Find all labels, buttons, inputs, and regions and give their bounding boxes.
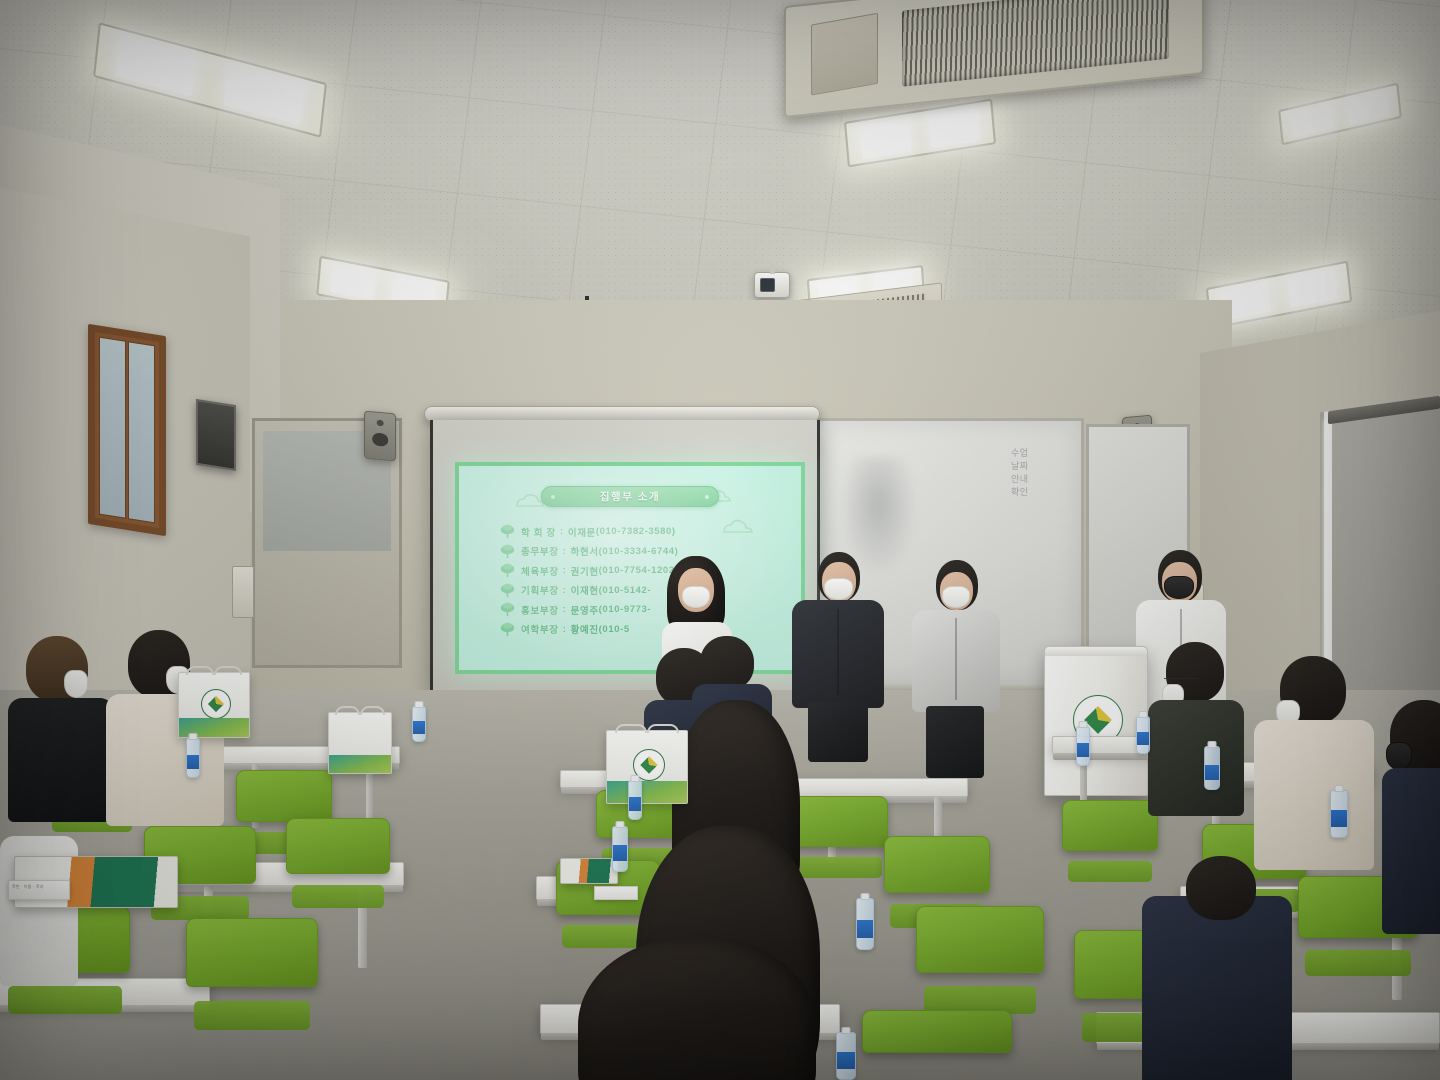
- roster-role: 학 회 장: [521, 525, 556, 539]
- tree-icon: [499, 524, 516, 539]
- emblem-crest: [208, 696, 224, 712]
- roster-role: 총무부장: [521, 544, 559, 558]
- face-mask: [1386, 742, 1412, 770]
- bag-handle: [335, 706, 360, 715]
- slide-title-pill: 집행부 소개: [541, 486, 719, 507]
- desk: [796, 778, 968, 797]
- face-mask: [64, 670, 88, 698]
- roster-separator: :: [563, 624, 567, 635]
- wall-speaker-left: [364, 411, 396, 462]
- bag-handle: [186, 666, 214, 675]
- legs: [926, 706, 984, 778]
- roster-name: 권기현: [571, 564, 599, 578]
- roster-row: 기획부장 : 이재현 (010-5142-: [499, 581, 799, 601]
- tree-icon: [499, 602, 516, 617]
- roster-row: 홍보부장 : 문영주 (010-9773-: [499, 600, 799, 620]
- roster-row: 학 회 장 : 이재문 (010-7382-3580): [499, 522, 799, 542]
- ac-vane: [811, 13, 878, 96]
- podium-top: [1045, 647, 1147, 656]
- whiteboard-line: 안내: [1011, 473, 1067, 486]
- roster-phone: (010-5: [599, 624, 630, 635]
- roster-separator: :: [563, 546, 567, 557]
- gift-box: [560, 858, 618, 884]
- roster-separator: :: [563, 604, 567, 615]
- head: [700, 636, 754, 690]
- tree-icon: [499, 583, 516, 598]
- roster-name: 이재현: [571, 583, 599, 597]
- left-window: [88, 324, 166, 536]
- chair[interactable]: [286, 818, 390, 908]
- student-seated: [1382, 700, 1440, 930]
- tree-icon: [499, 563, 516, 578]
- torso: [912, 610, 1000, 712]
- water-bottle: [856, 898, 874, 950]
- pill-dot: [551, 495, 555, 499]
- roster-row: 체육부장 : 권기현 (010-7754-1202): [499, 561, 799, 581]
- slide-roster: 학 회 장 : 이재문 (010-7382-3580) 총무부장 : 하현서 (…: [499, 522, 799, 639]
- torso: [792, 600, 884, 708]
- emblem-crest: [640, 756, 657, 773]
- torso: [1148, 700, 1244, 816]
- tote-bag: [178, 672, 250, 738]
- student-foreground: [1142, 856, 1292, 1080]
- name-card: [594, 886, 638, 900]
- roster-row: 총무부장 : 하현서 (010-3334-6744): [499, 542, 799, 562]
- chair[interactable]: [916, 906, 1044, 1014]
- torso: [1254, 720, 1374, 870]
- bag-handle: [647, 724, 679, 733]
- ac-grille: [902, 0, 1168, 86]
- face-mask: [682, 586, 710, 608]
- student-foreground: [578, 938, 816, 1080]
- face-mask: [1164, 576, 1194, 599]
- water-bottle: [186, 738, 200, 778]
- roster-phone: (010-9773-: [599, 604, 651, 615]
- bag-color-band: [329, 755, 391, 773]
- cctv-camera: [754, 272, 790, 298]
- roster-role: 여학부장: [521, 622, 559, 636]
- torso: [1142, 896, 1292, 1080]
- roster-role: 홍보부장: [521, 603, 559, 617]
- roster-phone: (010-5142-: [599, 585, 651, 596]
- roster-name: 문영주: [571, 603, 599, 617]
- whiteboard-writing: 수업 날짜 안내 확인: [1011, 447, 1067, 537]
- jacket-zipper: [837, 609, 839, 695]
- hair: [578, 938, 816, 1080]
- name-card: 학번 · 이름 · 학과: [8, 880, 70, 900]
- water-bottle: [1076, 726, 1090, 766]
- water-bottle: [612, 826, 628, 872]
- roster-phone: (010-7382-3580): [596, 526, 676, 537]
- head: [1186, 856, 1256, 920]
- classroom-scene: 수업 날짜 안내 확인 집행부 소개: [0, 0, 1440, 1080]
- wall-control-panel[interactable]: [232, 566, 254, 618]
- roster-separator: :: [563, 565, 567, 576]
- chair[interactable]: [862, 1010, 1012, 1080]
- glasses-icon: [1164, 678, 1198, 682]
- whiteboard-line: 날짜: [1011, 460, 1067, 473]
- water-bottle: [836, 1032, 856, 1080]
- bag-handle: [360, 706, 385, 715]
- roster-name: 황예진: [571, 622, 599, 636]
- water-bottle: [1136, 716, 1150, 754]
- chair[interactable]: [186, 918, 318, 1030]
- student-seated: [1254, 656, 1374, 866]
- tree-icon: [499, 622, 516, 637]
- roster-role: 기획부장: [521, 583, 559, 597]
- water-bottle: [1330, 790, 1348, 838]
- podium: [1044, 646, 1148, 796]
- slide-title: 집행부 소개: [600, 489, 660, 504]
- speaker-woofer: [372, 432, 388, 447]
- bag-handle: [615, 724, 647, 733]
- window-pane: [128, 341, 155, 523]
- speaker-tweeter: [377, 420, 384, 427]
- student-seated: [8, 636, 114, 816]
- torso: [1382, 768, 1440, 934]
- pill-dot: [705, 495, 709, 499]
- student-seated: [1148, 642, 1244, 812]
- face-mask: [824, 578, 853, 600]
- wall-mounted-panel: [196, 399, 236, 471]
- water-bottle: [628, 780, 642, 820]
- jacket-zipper: [955, 618, 957, 700]
- torso: [8, 698, 114, 822]
- whiteboard-line: 확인: [1011, 486, 1067, 499]
- window-pane: [99, 337, 126, 519]
- tote-bag: [606, 730, 688, 804]
- student-standing-2: [912, 560, 1000, 770]
- bag-handle: [214, 666, 242, 675]
- roster-separator: :: [560, 526, 564, 537]
- roster-role: 체육부장: [521, 564, 559, 578]
- legs: [808, 702, 868, 762]
- camera-mount: [770, 264, 775, 274]
- face-mask: [942, 586, 970, 608]
- water-bottle: [1204, 746, 1220, 790]
- tote-bag: [328, 712, 392, 774]
- bag-color-band: [607, 781, 687, 803]
- tree-icon: [499, 544, 516, 559]
- university-emblem: [201, 689, 231, 719]
- water-bottle: [412, 706, 426, 742]
- camera-lens: [760, 278, 775, 292]
- roster-separator: :: [563, 585, 567, 596]
- whiteboard-line: 수업: [1011, 447, 1067, 460]
- roster-name: 이재문: [568, 525, 596, 539]
- student-standing-1: [792, 552, 884, 752]
- roster-name: 하현서: [571, 544, 599, 558]
